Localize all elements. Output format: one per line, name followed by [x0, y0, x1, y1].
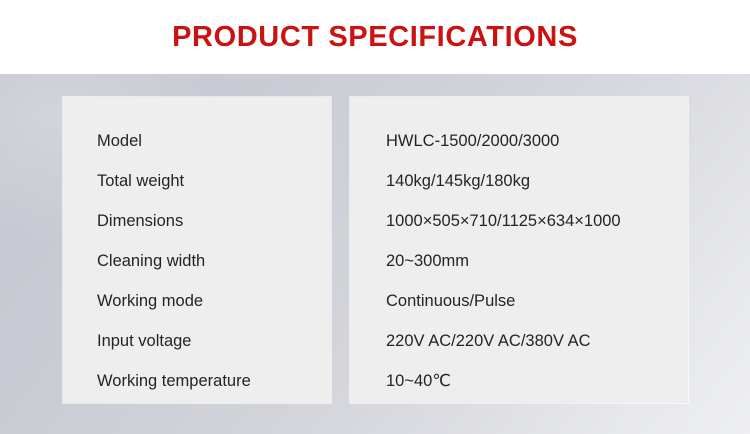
spec-row-label: Working mode: [63, 281, 331, 321]
spec-row-value: Continuous/Pulse: [350, 281, 688, 321]
spec-row-value: 140kg/145kg/180kg: [350, 161, 688, 201]
spec-row-label: Dimensions: [63, 201, 331, 241]
spec-row-value: 220V AC/220V AC/380V AC: [350, 321, 688, 361]
spec-label-text: Model: [97, 121, 142, 161]
spec-value-text: 1000×505×710/1125×634×1000: [386, 201, 621, 241]
spec-label-text: Working temperature: [97, 361, 251, 401]
spec-row-value: HWLC-1500/2000/3000: [350, 121, 688, 161]
spec-label-panel: ModelTotal weightDimensionsCleaning widt…: [63, 97, 331, 403]
spec-row-value: 10~40℃: [350, 361, 688, 401]
spec-label-text: Working mode: [97, 281, 203, 321]
spec-value-text: Continuous/Pulse: [386, 281, 515, 321]
spec-row-value: 20~300mm: [350, 241, 688, 281]
spec-row-label: Cleaning width: [63, 241, 331, 281]
spec-row-label: Model: [63, 121, 331, 161]
spec-value-text: HWLC-1500/2000/3000: [386, 121, 559, 161]
spec-value-list: HWLC-1500/2000/3000140kg/145kg/180kg1000…: [350, 97, 688, 401]
spec-row-value: 1000×505×710/1125×634×1000: [350, 201, 688, 241]
spec-value-text: 220V AC/220V AC/380V AC: [386, 321, 591, 361]
spec-label-text: Total weight: [97, 161, 184, 201]
spec-label-text: Dimensions: [97, 201, 183, 241]
spec-row-label: Input voltage: [63, 321, 331, 361]
spec-row-label: Total weight: [63, 161, 331, 201]
spec-value-text: 20~300mm: [386, 241, 469, 281]
product-specifications-page: PRODUCT SPECIFICATIONS ModelTotal weight…: [0, 0, 750, 434]
spec-label-text: Input voltage: [97, 321, 192, 361]
spec-label-list: ModelTotal weightDimensionsCleaning widt…: [63, 97, 331, 401]
spec-value-text: 10~40℃: [386, 361, 451, 401]
spec-value-text: 140kg/145kg/180kg: [386, 161, 530, 201]
spec-panels: ModelTotal weightDimensionsCleaning widt…: [0, 0, 750, 434]
spec-row-label: Working temperature: [63, 361, 331, 401]
spec-value-panel: HWLC-1500/2000/3000140kg/145kg/180kg1000…: [350, 97, 688, 403]
spec-label-text: Cleaning width: [97, 241, 205, 281]
